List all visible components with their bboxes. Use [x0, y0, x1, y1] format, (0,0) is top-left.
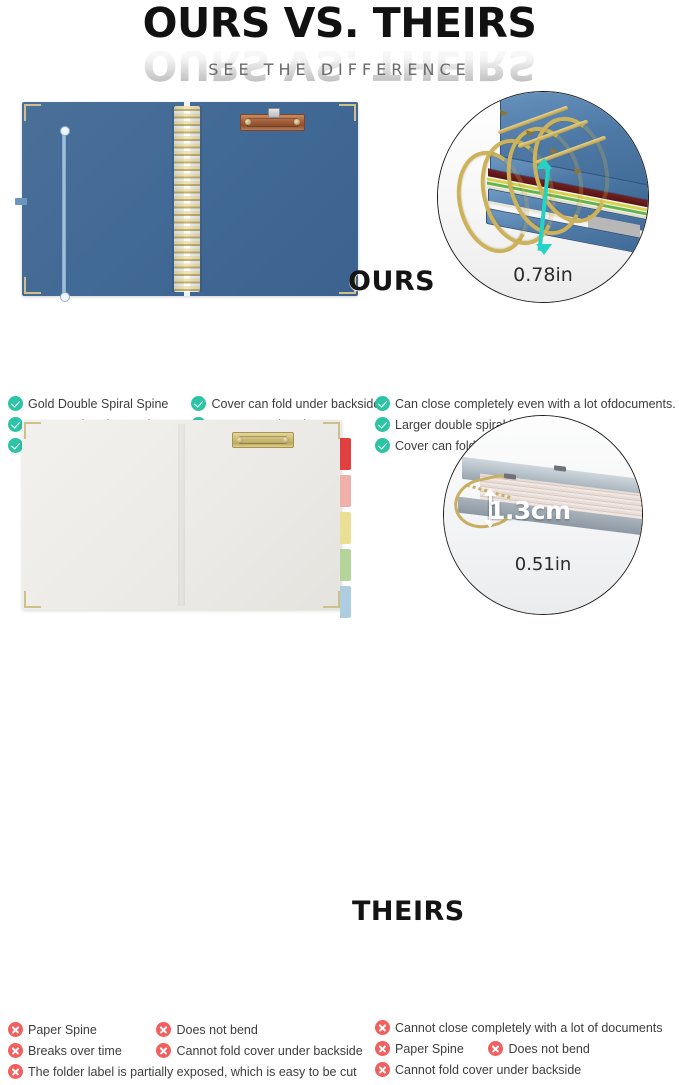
inset-overlay-caption-theirs: 1.3cm: [488, 496, 571, 525]
divider-tab-blue: [340, 586, 351, 618]
divider-tab-salmon: [340, 475, 351, 507]
cross-icon: [8, 1043, 23, 1058]
inset-caption-ours: 0.78in: [438, 264, 648, 286]
cross-icon: [375, 1062, 390, 1077]
corner-protector-icon: [24, 277, 41, 294]
clip-tab: [268, 108, 280, 118]
inset-ours-closeup: 0.78in: [437, 91, 649, 303]
product-image-theirs-folder: [22, 420, 342, 610]
copper-clip: [240, 114, 305, 131]
label-ours: OURS: [348, 266, 435, 297]
clip-screw-icon: [294, 119, 300, 125]
inset-caption-theirs: 0.51in: [444, 554, 642, 575]
cross-icon: [488, 1041, 503, 1056]
spiral-shadow: [172, 106, 202, 292]
gold-clip: [232, 432, 294, 448]
label-theirs: THEIRS: [352, 896, 465, 927]
measurement-arrow-head: [536, 244, 552, 255]
section-ours: OURS 0.78in: [0, 88, 679, 380]
page-title: OURS VS. THEIRS: [0, 2, 679, 44]
list-item: Cannot close completely with a lot of do…: [375, 1020, 675, 1041]
corner-protector-icon: [24, 104, 41, 121]
divider-tab-red: [340, 438, 351, 470]
page-subtitle: SEE THE DIFFERENCE: [0, 60, 679, 79]
cross-icon: [8, 1022, 23, 1037]
side-tab: [15, 198, 27, 205]
feature-item: The folder label is partially exposed, w…: [8, 1064, 357, 1079]
clip-screw-icon: [237, 437, 243, 443]
feature-item: Paper Spine: [8, 1022, 153, 1037]
feature-item: Does not bend: [488, 1041, 589, 1056]
list-item: Paper Spine Does not bend: [8, 1022, 373, 1043]
clip-inner-bevel: [247, 118, 298, 127]
elastic-band-end: [60, 292, 70, 302]
thin-spine-closeup-art: 1.3cm: [444, 416, 642, 614]
feature-item: Cannot fold cover under backside: [375, 1062, 581, 1077]
corner-protector-icon: [24, 591, 41, 608]
feature-item: Does not bend: [156, 1022, 257, 1037]
clip-screw-icon: [245, 119, 251, 125]
feature-list-theirs-right: Cannot close completely with a lot of do…: [375, 1020, 675, 1083]
measurement-arrow-head: [484, 488, 496, 496]
header: OURS VS. THEIRS OURS VS. THEIRS SEE THE …: [0, 0, 679, 88]
corner-protector-icon: [323, 591, 340, 608]
cross-icon: [156, 1043, 171, 1058]
corner-protector-icon: [24, 422, 41, 439]
product-image-ours-folder: [22, 102, 358, 296]
cross-icon: [8, 1064, 23, 1079]
cross-icon: [375, 1041, 390, 1056]
feature-item: Paper Spine: [375, 1041, 485, 1056]
measurement-arrow-head: [536, 158, 552, 169]
feature-list-theirs-left: Paper Spine Does not bend Breaks over ti…: [8, 1022, 373, 1085]
divider-tabs: [340, 438, 351, 623]
feature-item: Breaks over time: [8, 1043, 153, 1058]
inset-theirs-closeup: 1.3cm 0.51in: [443, 415, 643, 615]
divider-tab-yellow: [340, 512, 351, 544]
elastic-band: [62, 130, 66, 296]
elastic-band-end: [60, 126, 70, 136]
clip-screw-icon: [283, 437, 289, 443]
list-item: Cannot fold cover under backside: [375, 1062, 675, 1083]
paper-spine-crease: [178, 424, 185, 606]
corner-protector-icon: [339, 104, 356, 121]
section-theirs: THEIRS 1.3cm 0.51in Paper Spine Does: [0, 402, 679, 687]
list-item: Paper Spine Does not bend: [375, 1041, 675, 1062]
clip-inner-bevel: [239, 436, 287, 444]
cross-icon: [375, 1020, 390, 1035]
cross-icon: [156, 1022, 171, 1037]
corner-protector-icon: [323, 422, 340, 439]
feature-item: Cannot fold cover under backside: [156, 1043, 362, 1058]
list-item: Breaks over time Cannot fold cover under…: [8, 1043, 373, 1064]
feature-item: Cannot close completely with a lot of do…: [375, 1020, 663, 1035]
list-item: The folder label is partially exposed, w…: [8, 1064, 373, 1085]
divider-tab-green: [340, 549, 351, 581]
